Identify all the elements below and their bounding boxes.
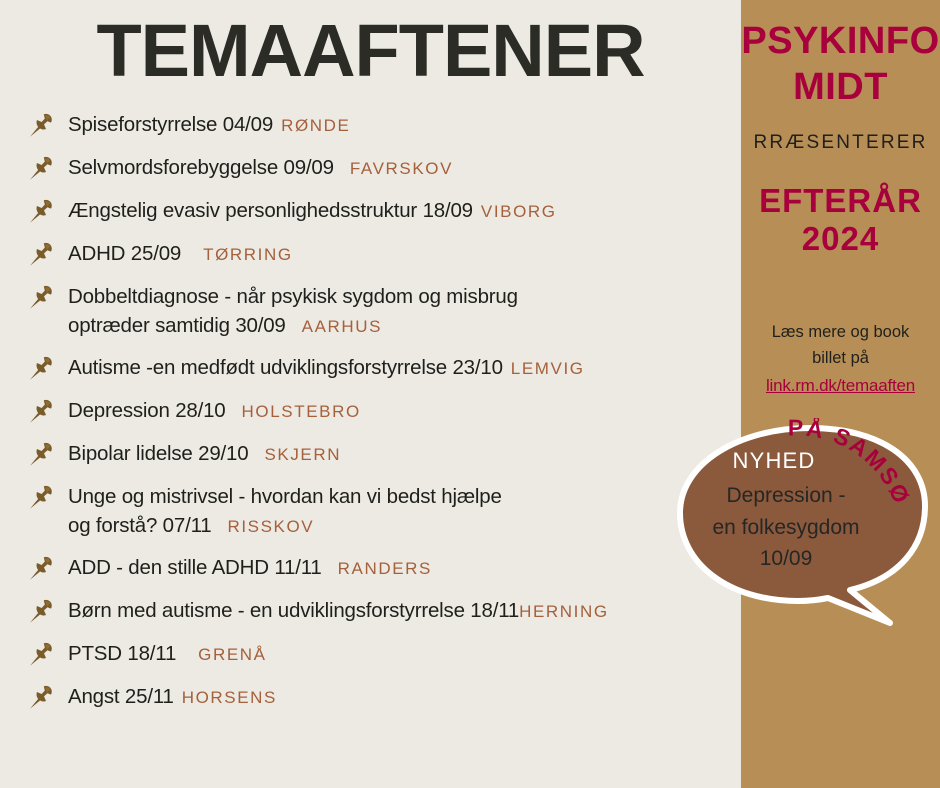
event-text: Bipolar lidelse 29/10SKJERN [68,442,341,465]
pushpin-icon [28,112,54,138]
pushpin-icon [28,441,54,467]
pushpin-icon [28,484,54,510]
event-date: 18/11 [127,642,176,665]
pushpin-icon [28,198,54,224]
event-text: Autisme -en medfødt udviklingsforstyrrel… [68,356,585,379]
event-item[interactable]: ADHD 25/09TØRRING [26,239,741,269]
event-title: Depression [68,399,170,422]
event-title: Spiseforstyrrelse [68,113,217,136]
event-item[interactable]: Ængstelig evasiv personlighedsstruktur 1… [26,196,741,226]
event-item[interactable]: Bipolar lidelse 29/10SKJERN [26,439,741,469]
event-title: Unge og mistrivsel - hvordan kan vi beds… [68,485,502,508]
booking-line1: Læs mere og book [772,323,910,341]
brand-name-line1: PSYKINFO [741,22,940,62]
event-title: Selvmordsforebyggelse [68,156,278,179]
pushpin-icon [28,555,54,581]
event-item[interactable]: Depression 28/10HOLSTEBRO [26,396,741,426]
page-title: TEMAAFTENER [0,8,741,93]
pa-samso-arc-text: PÅ SAMSØ [780,418,940,528]
event-text: Depression 28/10HOLSTEBRO [68,399,361,422]
event-city: FAVRSKOV [350,159,453,178]
event-date: 23/10 [452,356,502,379]
event-city: RANDERS [338,559,432,578]
event-item[interactable]: Selvmordsforebyggelse 09/09FAVRSKOV [26,153,741,183]
event-date: 28/10 [175,399,225,422]
event-city: RØNDE [281,116,350,135]
pushpin-icon [28,598,54,624]
event-item[interactable]: Autisme -en medfødt udviklingsforstyrrel… [26,353,741,383]
event-text: Ængstelig evasiv personlighedsstruktur 1… [68,199,557,222]
pushpin-icon [28,155,54,181]
event-text: Unge og mistrivsel - hvordan kan vi beds… [68,485,741,540]
pushpin-icon [28,241,54,267]
booking-info: Læs mere og book billet på link.rm.dk/te… [745,320,936,399]
event-date: 07/11 [163,514,212,537]
pushpin-icon [28,398,54,424]
event-title: Angst [68,685,119,708]
event-item[interactable]: Angst 25/11HORSENS [26,682,741,712]
event-city: TØRRING [203,245,293,264]
event-title-line2: optræder samtidig [68,314,230,337]
event-city: AARHUS [302,317,382,336]
presents-label: RRÆSENTERER [741,132,940,154]
brand-name-line2: MIDT [741,68,940,108]
event-text: ADD - den stille ADHD 11/11RANDERS [68,556,432,579]
event-item[interactable]: Dobbeltdiagnose - når psykisk sygdom og … [26,282,741,340]
pushpin-icon [28,684,54,710]
event-date: 30/09 [235,314,285,337]
event-title: PTSD [68,642,122,665]
pushpin-icon [28,284,54,310]
event-date: 11/11 [274,556,321,579]
event-city: VIBORG [481,202,557,221]
event-city: HOLSTEBRO [242,402,361,421]
svg-text:PÅ SAMSØ: PÅ SAMSØ [788,418,916,509]
event-title: Dobbeltdiagnose - når psykisk sygdom og … [68,285,518,308]
sidebar-panel: PSYKINFO MIDT RRÆSENTERER EFTERÅR 2024 L… [741,0,940,788]
event-item[interactable]: Unge og mistrivsel - hvordan kan vi beds… [26,482,741,540]
poster-canvas: TEMAAFTENER Spiseforstyrrelse 04/09RØNDE… [0,0,940,788]
event-item[interactable]: ADD - den stille ADHD 11/11RANDERS [26,553,741,583]
event-title: ADHD [68,242,125,265]
event-item[interactable]: PTSD 18/11GRENÅ [26,639,741,669]
season-year: 2024 [741,220,940,258]
pushpin-icon [28,355,54,381]
booking-line2: billet på [812,349,869,367]
event-title: Ængstelig evasiv personlighedsstruktur [68,199,417,222]
event-city: HORSENS [182,688,277,707]
event-date: 04/09 [223,113,273,136]
event-city: LEMVIG [511,359,585,378]
event-date: 25/09 [131,242,181,265]
pushpin-icon [28,641,54,667]
event-city: GRENÅ [198,645,266,664]
event-text: Dobbeltdiagnose - når psykisk sygdom og … [68,285,741,340]
event-text: Børn med autisme - en udviklingsforstyrr… [68,599,609,622]
event-text: Spiseforstyrrelse 04/09RØNDE [68,113,350,136]
event-text: Angst 25/11HORSENS [68,685,277,708]
event-date: 18/09 [423,199,473,222]
booking-link[interactable]: link.rm.dk/temaaften [745,373,936,399]
event-text: ADHD 25/09TØRRING [68,242,293,265]
event-title: Autisme -en medfødt udviklingsforstyrrel… [68,356,447,379]
event-city: SKJERN [264,445,341,464]
event-city: HERNING [519,602,609,621]
event-date: 09/09 [284,156,334,179]
event-date: 29/10 [198,442,248,465]
event-title-line2: og forstå? [68,514,157,537]
event-item[interactable]: Spiseforstyrrelse 04/09RØNDE [26,110,741,140]
event-item[interactable]: Børn med autisme - en udviklingsforstyrr… [26,596,741,626]
event-title: ADD - den stille ADHD [68,556,269,579]
season-label: EFTERÅR [741,182,940,220]
event-date: 18/11 [470,599,519,622]
event-city: RISSKOV [227,517,314,536]
event-list: Spiseforstyrrelse 04/09RØNDESelvmordsfor… [26,110,741,725]
event-title: Børn med autisme - en udviklingsforstyrr… [68,599,465,622]
event-text: Selvmordsforebyggelse 09/09FAVRSKOV [68,156,453,179]
event-title: Bipolar lidelse [68,442,193,465]
bubble-line3: 10/09 [690,543,882,575]
event-date: 25/11 [125,685,174,708]
event-text: PTSD 18/11GRENÅ [68,642,267,665]
